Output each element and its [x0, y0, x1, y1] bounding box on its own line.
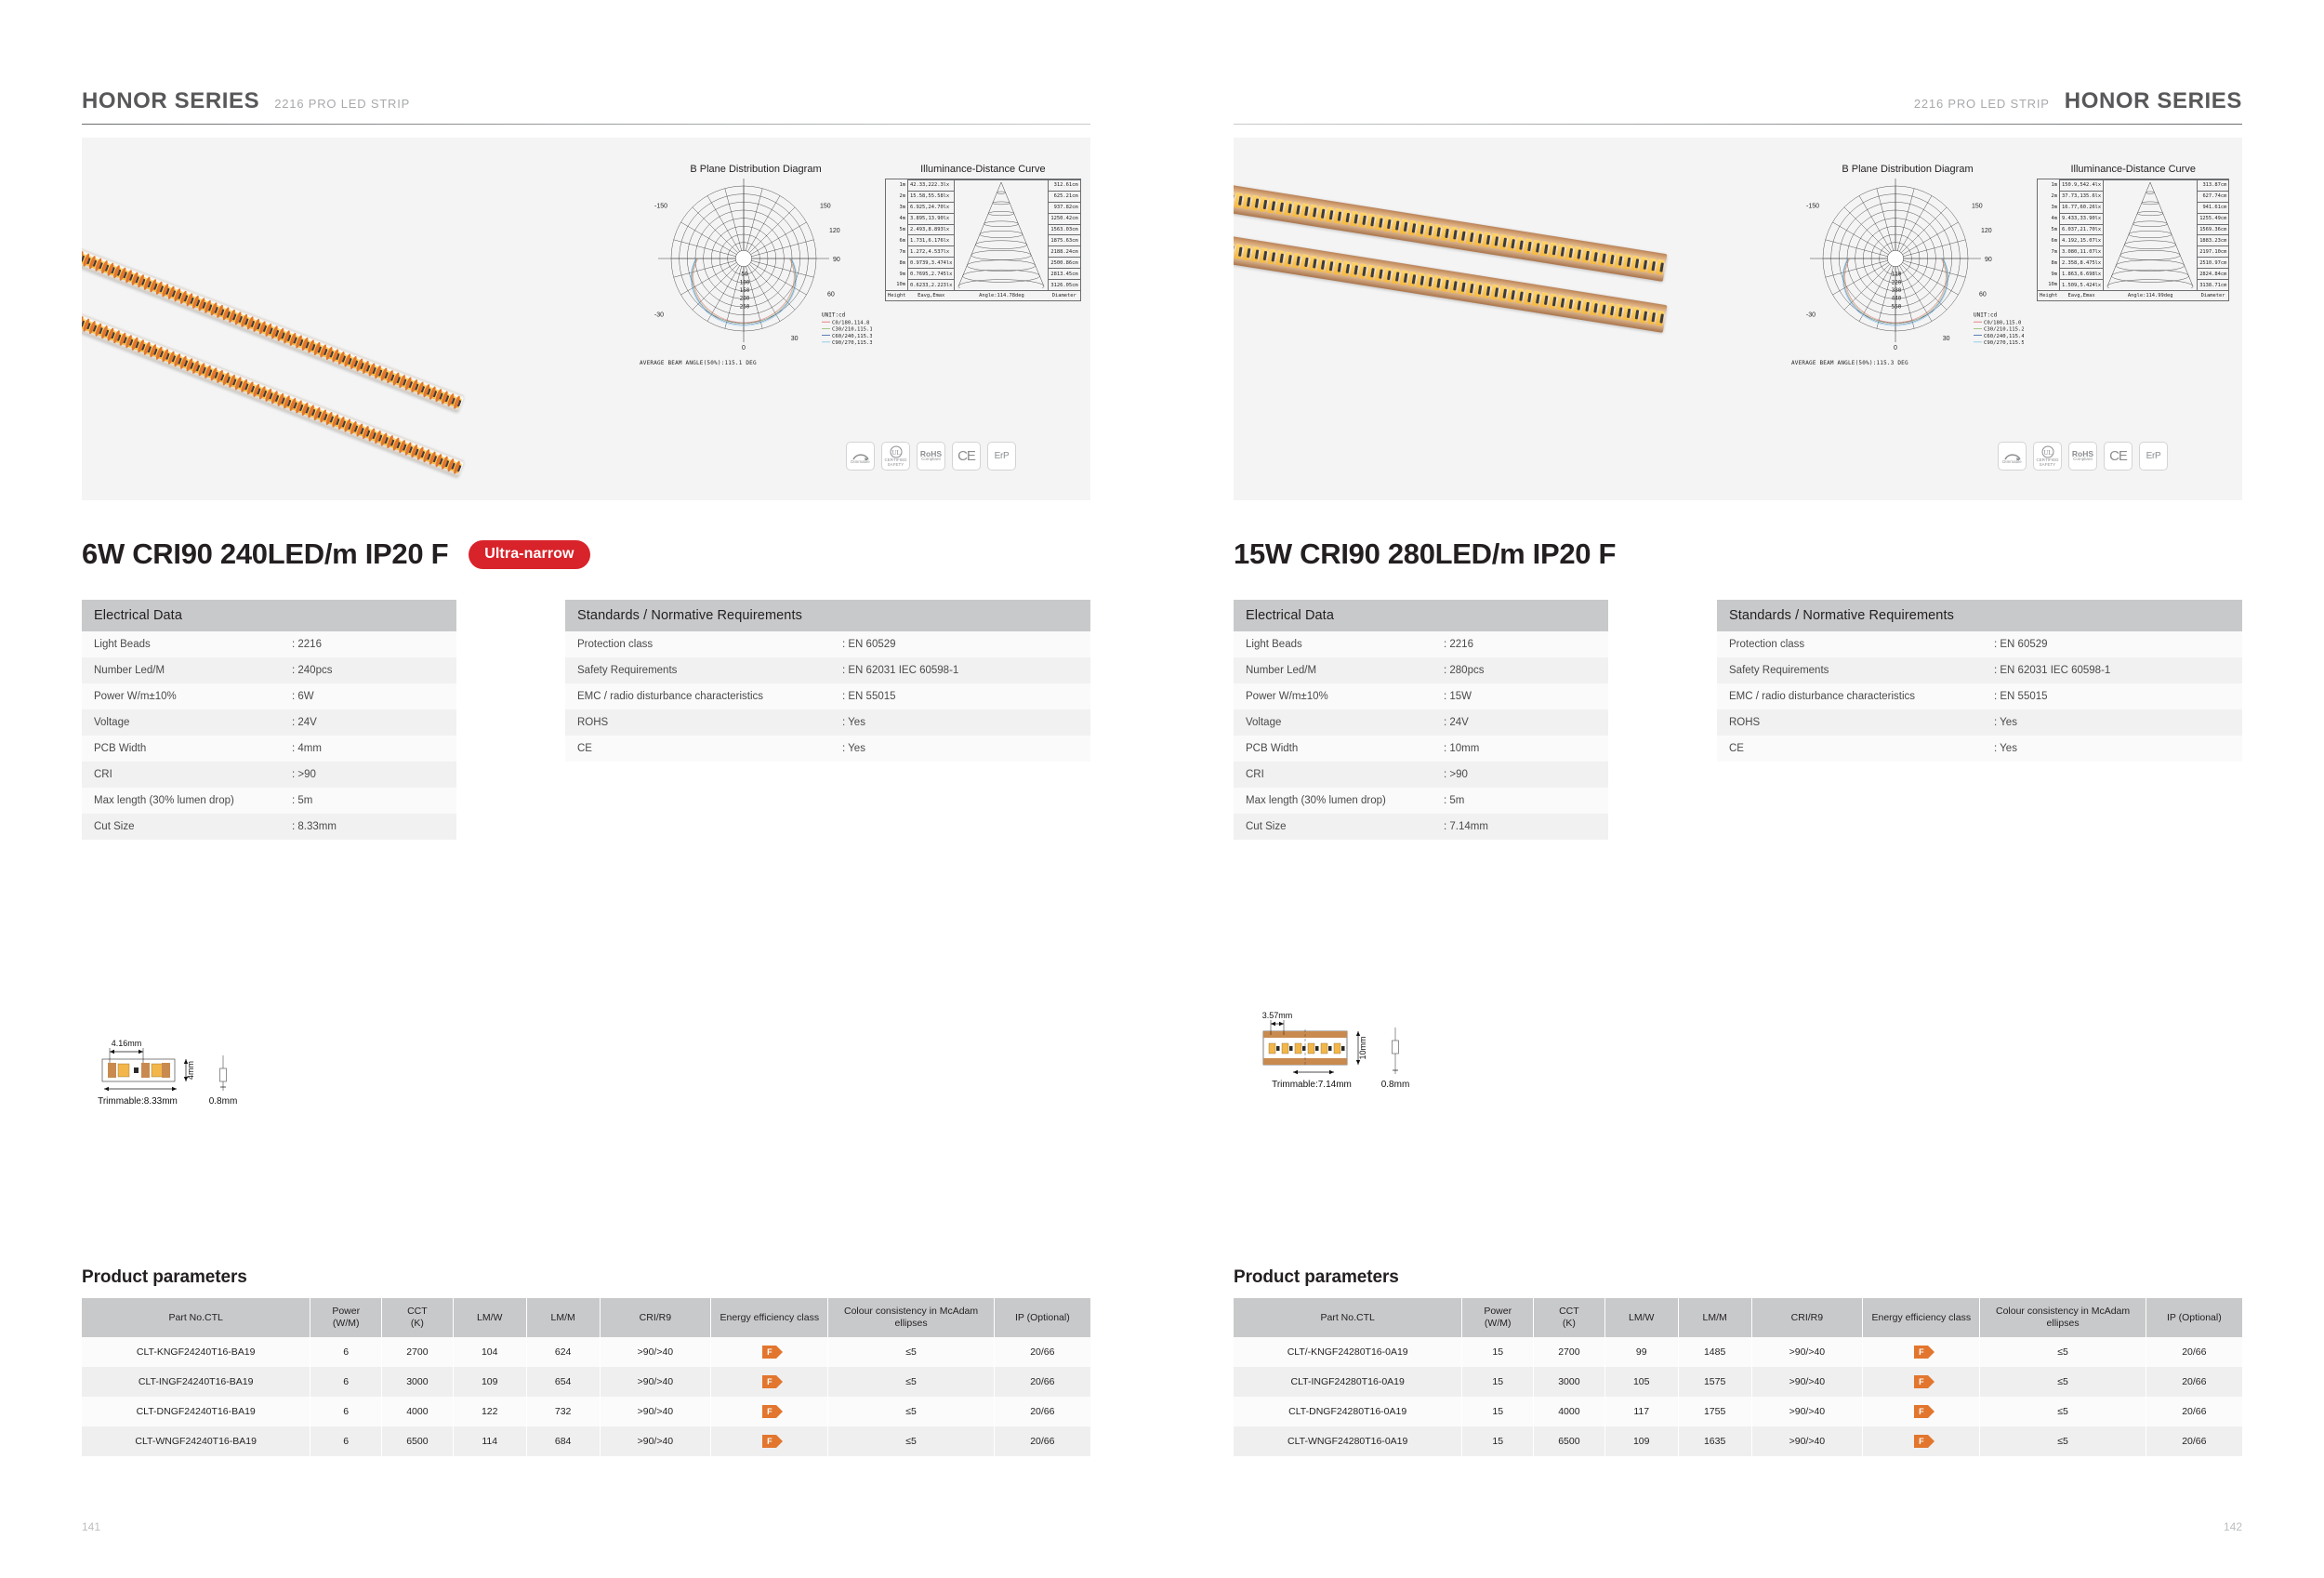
dimension-drawing-svg: 4.16mm4mmTrimmable:8.33mm0.8mm	[82, 1028, 314, 1130]
certification-badges: DimmableULCERTIFIEDSAFETYRoHSCompliantCE…	[846, 442, 1016, 471]
cell-lmw: 122	[453, 1397, 526, 1426]
header-rule	[1234, 124, 2242, 125]
energy-efficiency-badge: F	[1914, 1375, 1928, 1388]
standards-key: Safety Requirements	[1717, 657, 1987, 683]
cell-part: CLT-DNGF24280T16-0A19	[1234, 1397, 1462, 1426]
cell-ip: 20/66	[2146, 1426, 2242, 1456]
illuminance-diameter: 2824.84cm	[2198, 269, 2229, 280]
illuminance-value: 16.77,60.26lx	[2059, 202, 2103, 213]
cell-lmm: 624	[526, 1337, 600, 1367]
electrical-data-row: Voltage: 24V	[82, 709, 456, 736]
polar-angle-label: -30	[654, 312, 664, 318]
cell-mcadam: ≤5	[1980, 1367, 2146, 1397]
electrical-data-value: : 6W	[284, 683, 456, 709]
cell-lmw: 109	[1604, 1426, 1678, 1456]
cell-cct: 2700	[1534, 1337, 1605, 1367]
polar-distribution-svg: -/+180-150150120906030-30050100150200250…	[640, 179, 872, 365]
ce-label: CE	[2109, 448, 2127, 464]
catalog-spread: HONOR SERIES2216 PRO LED STRIPB Plane Di…	[0, 0, 2324, 1578]
polar-angle-label: 0	[742, 345, 746, 351]
cell-eff: F	[711, 1397, 828, 1426]
polar-angle-label: -150	[654, 203, 667, 209]
illuminance-footer-cell: Diameter	[1049, 291, 1080, 300]
electrical-data-table: Electrical DataLight Beads: 2216Number L…	[1234, 600, 1608, 840]
product-badge: Ultra-narrow	[469, 540, 589, 569]
parameters-column-header: Energy efficiency class	[1863, 1298, 1980, 1337]
electrical-data-row: Cut Size: 8.33mm	[82, 814, 456, 840]
electrical-data-key: Number Led/M	[82, 657, 284, 683]
product-title-row: 15W CRI90 280LED/m IP20 F	[1234, 537, 1616, 571]
electrical-data-key: Cut Size	[1234, 814, 1436, 840]
standards-value: : Yes	[1987, 736, 2154, 762]
page-header: HONOR SERIES2216 PRO LED STRIP	[82, 88, 410, 120]
polar-ring-label: 220	[1892, 279, 1902, 285]
illuminance-height: 9m	[2038, 269, 2059, 280]
resistor	[1660, 263, 1664, 272]
cell-ip: 20/66	[994, 1397, 1090, 1426]
parameters-column-header: Power(W/M)	[1462, 1298, 1534, 1337]
cell-lmm: 1635	[1678, 1426, 1751, 1456]
illuminance-cone-svg	[955, 180, 1048, 288]
standards-row: Safety Requirements: EN 62031 IEC 60598-…	[565, 657, 1090, 683]
polar-angle-label: 60	[827, 292, 835, 298]
illuminance-diameter: 1250.42cm	[1049, 213, 1080, 224]
illuminance-diameter: 3138.71cm	[2198, 280, 2229, 291]
header-subtitle: 2216 PRO LED STRIP	[274, 97, 410, 111]
polar-section: B Plane Distribution Diagram-/+180-15015…	[1791, 164, 2024, 366]
product-parameters-table[interactable]: Part No.CTLPower(W/M)CCT(K)LM/WLM/MCRI/R…	[1234, 1298, 2242, 1456]
product-parameters-title: Product parameters	[82, 1267, 247, 1288]
cell-cri: >90/>40	[600, 1367, 711, 1397]
cell-lmm: 654	[526, 1367, 600, 1397]
header-rule	[82, 124, 1090, 125]
cell-cct: 6500	[1534, 1426, 1605, 1456]
illuminance-value: 42.33,222.3lx	[907, 180, 954, 192]
illuminance-diameter: 937.82cm	[1049, 202, 1080, 213]
dimmable-label: Dimmable	[2002, 460, 2022, 465]
cell-lmw: 105	[1604, 1367, 1678, 1397]
pitch-dimension-label: 3.57mm	[1262, 1011, 1293, 1020]
polar-angle-label: 30	[1943, 336, 1950, 342]
polar-legend-entry: C90/270,115.5	[1984, 340, 2024, 346]
illuminance-value: 15.58,55.58lx	[907, 191, 954, 202]
certification-badges: DimmableULCERTIFIEDSAFETYRoHSCompliantCE…	[1998, 442, 2168, 471]
standards-row: ROHS: Yes	[565, 709, 1090, 736]
ul-certified-icon: ULCERTIFIEDSAFETY	[881, 442, 910, 471]
polar-distribution-svg: -/+180-150150120906030-30011022033044055…	[1791, 179, 2024, 365]
standards-value: : EN 55015	[1987, 683, 2154, 709]
page-header: 2216 PRO LED STRIPHONOR SERIES	[1914, 88, 2242, 120]
ce-icon: CE	[952, 442, 981, 471]
electrical-data-key: Power W/m±10%	[1234, 683, 1436, 709]
cell-eff: F	[711, 1367, 828, 1397]
table-row[interactable]: CLT-INGF24280T16-0A191530001051575>90/>4…	[1234, 1367, 2242, 1397]
illuminance-diameter: 2188.24cm	[1049, 246, 1080, 258]
standards-value: : Yes	[835, 736, 1002, 762]
parameters-column-header: LM/W	[1604, 1298, 1678, 1337]
electrical-data-row: PCB Width: 4mm	[82, 736, 456, 762]
illuminance-distance-table: 1m42.33,222.3lx312.61cm2m15.58,55.58lx62…	[886, 179, 1080, 300]
page-title: 15W CRI90 280LED/m IP20 F	[1234, 537, 1616, 571]
cell-eff: F	[1863, 1337, 1980, 1367]
table-row[interactable]: CLT-INGF24240T16-BA1963000109654>90/>40F…	[82, 1367, 1090, 1397]
cell-lmw: 99	[1604, 1337, 1678, 1367]
parameters-column-header: Colour consistency in McAdam ellipses	[828, 1298, 994, 1337]
electrical-data-key: PCB Width	[1234, 736, 1436, 762]
table-row[interactable]: CLT-KNGF24240T16-BA1962700104624>90/>40F…	[82, 1337, 1090, 1367]
cell-eff: F	[1863, 1397, 1980, 1426]
illuminance-diameter: 1255.49cm	[2198, 213, 2229, 224]
polar-angle-label: 150	[1972, 203, 1983, 209]
table-row[interactable]: CLT-WNGF24280T16-0A191565001091635>90/>4…	[1234, 1426, 2242, 1456]
illuminance-height: 7m	[886, 246, 907, 258]
polar-angle-label: 90	[833, 257, 840, 263]
illuminance-curve-title: Illuminance-Distance Curve	[2037, 164, 2229, 175]
trimmable-label: Trimmable:7.14mm	[1272, 1080, 1352, 1090]
illuminance-cone-cell	[955, 180, 1049, 291]
electrical-data-heading: Electrical Data	[1234, 600, 1608, 631]
photometric-block: B Plane Distribution Diagram-/+180-15015…	[640, 164, 1076, 366]
illuminance-diameter: 1569.36cm	[2198, 224, 2229, 235]
electrical-data-value: : 240pcs	[284, 657, 456, 683]
cell-power: 15	[1462, 1426, 1534, 1456]
illuminance-diameter: 2197.10cm	[2198, 246, 2229, 258]
illuminance-value: 6.037,21.70lx	[2059, 224, 2103, 235]
illuminance-footer-row: HeightEavg,EmaxAngle:114.78degDiameter	[886, 291, 1080, 300]
cell-cri: >90/>40	[600, 1397, 711, 1426]
electrical-data-key: Number Led/M	[1234, 657, 1436, 683]
standards-row: Protection class: EN 60529	[565, 631, 1090, 657]
cell-lmm: 1755	[1678, 1397, 1751, 1426]
illuminance-cone-cell	[2104, 180, 2198, 291]
standards-key: EMC / radio disturbance characteristics	[1717, 683, 1987, 709]
hero-panel: B Plane Distribution Diagram-/+180-15015…	[1234, 138, 2242, 500]
illuminance-diameter: 1563.03cm	[1049, 224, 1080, 235]
cell-power: 6	[310, 1367, 382, 1397]
trimmable-label: Trimmable:8.33mm	[98, 1096, 178, 1107]
electrical-data-value: : >90	[284, 762, 456, 788]
illuminance-height: 5m	[2038, 224, 2059, 235]
illuminance-diameter: 1883.23cm	[2198, 235, 2229, 246]
parameters-column-header: Part No.CTL	[82, 1298, 310, 1337]
illuminance-height: 3m	[2038, 202, 2059, 213]
parameters-column-header: Part No.CTL	[1234, 1298, 1462, 1337]
illuminance-value: 9.433,33.90lx	[2059, 213, 2103, 224]
standards-heading: Standards / Normative Requirements	[565, 600, 1090, 631]
cell-cri: >90/>40	[600, 1337, 711, 1367]
electrical-data-key: Max length (30% lumen drop)	[1234, 788, 1436, 814]
illuminance-diameter: 625.21cm	[1049, 191, 1080, 202]
polar-ring-label: 150	[740, 287, 750, 294]
page-number: 142	[2224, 1520, 2242, 1533]
standards-key: CE	[1717, 736, 1987, 762]
electrical-data-row: Max length (30% lumen drop): 5m	[1234, 788, 1608, 814]
polar-angle-label: -150	[1806, 203, 1819, 209]
energy-efficiency-badge: F	[1914, 1346, 1928, 1359]
standards-row: Safety Requirements: EN 62031 IEC 60598-…	[1717, 657, 2242, 683]
product-parameters-table[interactable]: Part No.CTLPower(W/M)CCT(K)LM/WLM/MCRI/R…	[82, 1298, 1090, 1456]
parameters-column-header: CRI/R9	[600, 1298, 711, 1337]
polar-legend-entry: C30/210,115.1	[832, 327, 872, 333]
ul-safety-label: SAFETY	[2040, 463, 2056, 468]
electrical-data-value: : 5m	[1436, 788, 1608, 814]
cell-lmm: 1485	[1678, 1337, 1751, 1367]
electrical-data-key: Power W/m±10%	[82, 683, 284, 709]
parameters-column-header: CRI/R9	[1751, 1298, 1863, 1337]
erp-icon: ErP	[987, 442, 1016, 471]
illuminance-value: 1.509,5.424lx	[2059, 280, 2103, 291]
standards-key: CE	[565, 736, 835, 762]
electrical-data-value: : 24V	[1436, 709, 1608, 736]
illuminance-value: 1.731,6.176lx	[907, 235, 954, 246]
electrical-data-value: : 24V	[284, 709, 456, 736]
cell-mcadam: ≤5	[828, 1367, 994, 1397]
polar-legend-entry: C60/240,115.3	[832, 334, 872, 339]
standards-heading: Standards / Normative Requirements	[1717, 600, 2242, 631]
width-dimension-label: 4mm	[186, 1061, 195, 1080]
electrical-data-key: Light Beads	[82, 631, 284, 657]
dimension-drawing: 4.16mm4mmTrimmable:8.33mm0.8mm	[82, 1028, 314, 1134]
cell-lmm: 684	[526, 1426, 600, 1456]
illuminance-diameter: 312.61cm	[1049, 180, 1080, 192]
illuminance-cone-svg	[2104, 180, 2197, 288]
polar-ring-label: 250	[740, 303, 750, 310]
cell-lmm: 732	[526, 1397, 600, 1426]
illuminance-footer-cell: Angle:114.78deg	[955, 291, 1049, 300]
illuminance-height: 8m	[886, 258, 907, 269]
dimmable-icon: Dimmable	[1998, 442, 2027, 471]
ce-icon: CE	[2104, 442, 2133, 471]
electrical-data-row: Light Beads: 2216	[1234, 631, 1608, 657]
polar-section: B Plane Distribution Diagram-/+180-15015…	[640, 164, 872, 366]
cell-ip: 20/66	[2146, 1367, 2242, 1397]
electrical-data-row: Power W/m±10%: 15W	[1234, 683, 1608, 709]
cell-part: CLT/-KNGF24280T16-0A19	[1234, 1337, 1462, 1367]
standards-value: : Yes	[1987, 709, 2154, 736]
cell-power: 15	[1462, 1367, 1534, 1397]
cell-lmw: 114	[453, 1426, 526, 1456]
cell-mcadam: ≤5	[828, 1337, 994, 1367]
cell-mcadam: ≤5	[1980, 1426, 2146, 1456]
rohs-compliant-label: Compliant	[921, 457, 941, 462]
illuminance-height: 8m	[2038, 258, 2059, 269]
electrical-data-value: : 4mm	[284, 736, 456, 762]
polar-legend-entry: C90/270,115.3	[832, 340, 872, 346]
energy-efficiency-badge: F	[1914, 1435, 1928, 1448]
table-row[interactable]: CLT-DNGF24280T16-0A191540001171755>90/>4…	[1234, 1397, 2242, 1426]
electrical-data-key: PCB Width	[82, 736, 284, 762]
led-strip-image	[82, 236, 465, 413]
parameters-column-header: CCT(K)	[382, 1298, 454, 1337]
photo-area	[82, 138, 640, 500]
erp-label: ErP	[2146, 451, 2161, 461]
product-parameters-title: Product parameters	[1234, 1267, 1399, 1288]
electrical-data-row: Power W/m±10%: 6W	[82, 683, 456, 709]
illuminance-diameter: 1875.63cm	[1049, 235, 1080, 246]
illuminance-height: 5m	[886, 224, 907, 235]
standards-table: Standards / Normative RequirementsProtec…	[1717, 600, 2242, 762]
electrical-data-key: Voltage	[82, 709, 284, 736]
illuminance-value: 3.895,13.90lx	[907, 213, 954, 224]
resistor	[1660, 314, 1664, 324]
led-row	[82, 236, 465, 413]
cell-mcadam: ≤5	[1980, 1337, 2146, 1367]
polar-legend-entry: C60/240,115.4	[1984, 334, 2024, 339]
electrical-data-value: : 7.14mm	[1436, 814, 1608, 840]
catalog-page-142: 2216 PRO LED STRIPHONOR SERIESB Plane Di…	[1162, 0, 2324, 1578]
cell-eff: F	[711, 1337, 828, 1367]
electrical-data-value: : 280pcs	[1436, 657, 1608, 683]
standards-key: ROHS	[565, 709, 835, 736]
polar-diagram-title: B Plane Distribution Diagram	[1791, 164, 2024, 175]
polar-ring-label: 110	[1892, 272, 1902, 278]
energy-efficiency-badge: F	[1914, 1405, 1928, 1418]
photo-area	[1234, 138, 1791, 500]
standards-row: EMC / radio disturbance characteristics:…	[565, 683, 1090, 709]
standards-value: : EN 62031 IEC 60598-1	[835, 657, 1002, 683]
illuminance-value: 1.863,6.698lx	[2059, 269, 2103, 280]
erp-icon: ErP	[2139, 442, 2168, 471]
photometric-block: B Plane Distribution Diagram-/+180-15015…	[1791, 164, 2228, 366]
cell-ip: 20/66	[2146, 1337, 2242, 1367]
illuminance-value: 0.6233,2.223lx	[907, 280, 954, 291]
polar-ring-label: 200	[740, 296, 750, 302]
parameters-header-row: Part No.CTLPower(W/M)CCT(K)LM/WLM/MCRI/R…	[82, 1298, 1090, 1337]
table-row[interactable]: CLT/-KNGF24280T16-0A19152700991485>90/>4…	[1234, 1337, 2242, 1367]
polar-diagram: -/+180-150150120906030-30050100150200250…	[640, 179, 872, 369]
product-photo	[82, 138, 640, 500]
cell-cri: >90/>40	[600, 1426, 711, 1456]
electrical-data-value: : 8.33mm	[284, 814, 456, 840]
cell-part: CLT-DNGF24240T16-BA19	[82, 1397, 310, 1426]
electrical-data-row: PCB Width: 10mm	[1234, 736, 1608, 762]
electrical-data-row: Light Beads: 2216	[82, 631, 456, 657]
ul-safety-label: SAFETY	[888, 463, 905, 468]
illuminance-footer-cell: Eavg,Emax	[907, 291, 954, 300]
polar-legend-entry: C0/180,114.8	[832, 320, 870, 325]
polar-ring-label: 550	[1892, 303, 1902, 310]
illuminance-footer-cell: Diameter	[2198, 291, 2229, 300]
parameters-column-header: CCT(K)	[1534, 1298, 1605, 1337]
electrical-data-key: Cut Size	[82, 814, 284, 840]
polar-unit-label: UNIT:cd	[822, 312, 846, 318]
cell-ip: 20/66	[994, 1426, 1090, 1456]
ce-label: CE	[957, 448, 975, 464]
standards-key: Protection class	[565, 631, 835, 657]
table-row[interactable]: CLT-DNGF24240T16-BA1964000122732>90/>40F…	[82, 1397, 1090, 1426]
standards-row: CE: Yes	[1717, 736, 2242, 762]
illuminance-height: 9m	[886, 269, 907, 280]
cell-power: 6	[310, 1426, 382, 1456]
illuminance-box: 1m150.9,542.4lx313.87cm2m37.73,135.6lx62…	[2037, 179, 2229, 301]
thickness-label: 0.8mm	[209, 1096, 238, 1107]
illuminance-height: 10m	[2038, 280, 2059, 291]
svg-text:UL: UL	[891, 449, 900, 457]
illuminance-footer-cell: Height	[2038, 291, 2059, 300]
illuminance-diameter: 941.61cm	[2198, 202, 2229, 213]
illuminance-height: 7m	[2038, 246, 2059, 258]
electrical-data-value: : 15W	[1436, 683, 1608, 709]
cell-lmw: 117	[1604, 1397, 1678, 1426]
cell-eff: F	[1863, 1367, 1980, 1397]
header-subtitle: 2216 PRO LED STRIP	[1914, 97, 2050, 111]
illuminance-section: Illuminance-Distance Curve1m42.33,222.3l…	[885, 164, 1081, 366]
cell-cct: 2700	[382, 1337, 454, 1367]
pitch-dimension-label: 4.16mm	[112, 1039, 142, 1048]
illuminance-value: 2.358,8.475lx	[2059, 258, 2103, 269]
cell-ip: 20/66	[994, 1367, 1090, 1397]
electrical-data-row: CRI: >90	[1234, 762, 1608, 788]
standards-key: ROHS	[1717, 709, 1987, 736]
polar-angle-label: -30	[1806, 312, 1816, 318]
illuminance-diameter: 627.74cm	[2198, 191, 2229, 202]
dimmable-label: Dimmable	[851, 460, 870, 465]
illuminance-curve-title: Illuminance-Distance Curve	[885, 164, 1081, 175]
polar-legend-entry: C0/180,115.0	[1984, 320, 2021, 325]
illuminance-value: 0.9739,3.474lx	[907, 258, 954, 269]
illuminance-height: 2m	[2038, 191, 2059, 202]
parameters-column-header: Colour consistency in McAdam ellipses	[1980, 1298, 2146, 1337]
erp-label: ErP	[995, 451, 1010, 461]
parameters-column-header: LM/M	[1678, 1298, 1751, 1337]
energy-efficiency-badge: F	[762, 1435, 776, 1448]
cell-power: 15	[1462, 1397, 1534, 1426]
rohs-icon: RoHSCompliant	[917, 442, 945, 471]
cell-cri: >90/>40	[1751, 1397, 1863, 1426]
page-number: 141	[82, 1520, 100, 1533]
standards-row: CE: Yes	[565, 736, 1090, 762]
illuminance-footer-cell: Angle:114.99deg	[2104, 291, 2198, 300]
polar-angle-label: 90	[1985, 257, 1992, 263]
illuminance-diameter: 2813.45cm	[1049, 269, 1080, 280]
polar-ring-label: 50	[741, 272, 748, 278]
standards-row: ROHS: Yes	[1717, 709, 2242, 736]
electrical-data-key: Light Beads	[1234, 631, 1436, 657]
illuminance-row: 1m150.9,542.4lx313.87cm	[2038, 180, 2228, 192]
illuminance-value: 2.493,8.893lx	[907, 224, 954, 235]
standards-key: EMC / radio disturbance characteristics	[565, 683, 835, 709]
illuminance-diameter: 3126.05cm	[1049, 280, 1080, 291]
electrical-data-value: : 5m	[284, 788, 456, 814]
illuminance-value: 1.272,4.537lx	[907, 246, 954, 258]
polar-ring-label: 330	[1892, 287, 1902, 294]
svg-text:UL: UL	[2043, 449, 2052, 457]
illuminance-value: 150.9,542.4lx	[2059, 180, 2103, 192]
energy-efficiency-badge: F	[762, 1375, 776, 1388]
illuminance-value: 4.192,15.07lx	[2059, 235, 2103, 246]
product-title-row: 6W CRI90 240LED/m IP20 FUltra-narrow	[82, 537, 590, 571]
electrical-data-row: Max length (30% lumen drop): 5m	[82, 788, 456, 814]
polar-angle-label: 60	[1979, 292, 1987, 298]
standards-value: : EN 62031 IEC 60598-1	[1987, 657, 2154, 683]
polar-ring-label: 100	[740, 279, 750, 285]
cell-cri: >90/>40	[1751, 1367, 1863, 1397]
parameters-column-header: Energy efficiency class	[711, 1298, 828, 1337]
illuminance-value: 6.925,24.70lx	[907, 202, 954, 213]
table-row[interactable]: CLT-WNGF24240T16-BA1966500114684>90/>40F…	[82, 1426, 1090, 1456]
polar-unit-label: UNIT:cd	[1974, 312, 1998, 318]
electrical-data-row: Voltage: 24V	[1234, 709, 1608, 736]
standards-row: EMC / radio disturbance characteristics:…	[1717, 683, 2242, 709]
cell-cri: >90/>40	[1751, 1426, 1863, 1456]
standards-row: Protection class: EN 60529	[1717, 631, 2242, 657]
rohs-compliant-label: Compliant	[2073, 457, 2093, 462]
illuminance-height: 3m	[886, 202, 907, 213]
cell-cri: >90/>40	[1751, 1337, 1863, 1367]
polar-angle-label: 120	[829, 228, 840, 234]
standards-table: Standards / Normative RequirementsProtec…	[565, 600, 1090, 762]
product-photo	[1234, 138, 1791, 500]
